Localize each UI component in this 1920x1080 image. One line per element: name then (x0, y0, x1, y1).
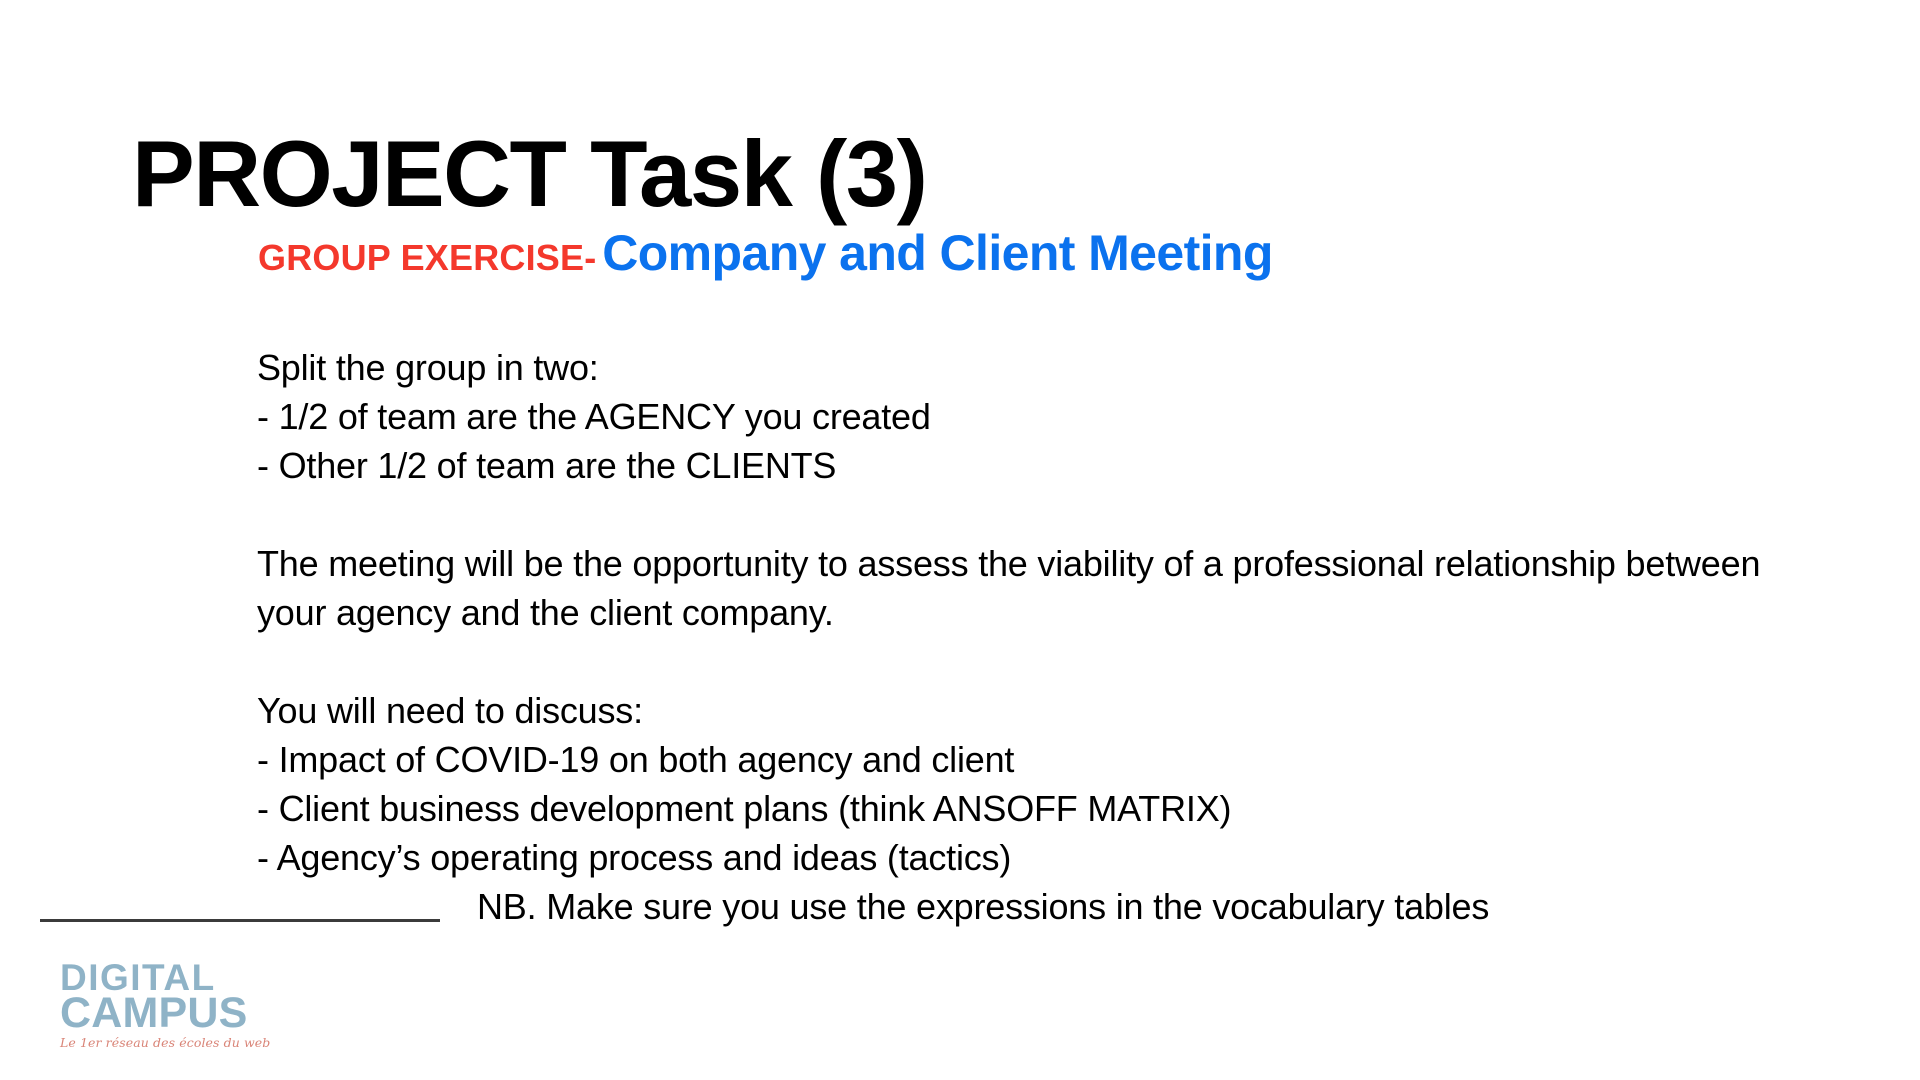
subtitle-headline: Company and Client Meeting (602, 225, 1273, 281)
block2-paragraph: The meeting will be the opportunity to a… (257, 539, 1817, 637)
block1-item-1: - 1/2 of team are the AGENCY you created (257, 392, 1817, 441)
block3-item-1: - Impact of COVID-19 on both agency and … (257, 735, 1817, 784)
subtitle-eyebrow: GROUP EXERCISE (258, 237, 584, 278)
slide-subtitle: GROUP EXERCISE-Company and Client Meetin… (258, 228, 1273, 278)
body-spacer-1 (257, 490, 1817, 539)
slide-canvas: PROJECT Task (3) GROUP EXERCISE-Company … (0, 0, 1920, 1080)
logo-tagline: Le 1er réseau des écoles du web (60, 1035, 240, 1050)
block1-item-2: - Other 1/2 of team are the CLIENTS (257, 441, 1817, 490)
body-block-1: Split the group in two: - 1/2 of team ar… (257, 343, 1817, 490)
footer-divider (40, 919, 440, 922)
logo-word-campus: CAMPUS (60, 995, 240, 1033)
body-block-3: You will need to discuss: - Impact of CO… (257, 686, 1817, 882)
block3-item-2: - Client business development plans (thi… (257, 784, 1817, 833)
block3-item-3: - Agency’s operating process and ideas (… (257, 833, 1817, 882)
block3-heading: You will need to discuss: (257, 686, 1817, 735)
slide-body: Split the group in two: - 1/2 of team ar… (257, 343, 1817, 882)
subtitle-separator: - (584, 237, 596, 278)
slide-title: PROJECT Task (3) (132, 125, 926, 224)
body-block-2: The meeting will be the opportunity to a… (257, 539, 1817, 637)
block1-heading: Split the group in two: (257, 343, 1817, 392)
body-note: NB. Make sure you use the expressions in… (477, 882, 1489, 931)
digital-campus-logo: DIGITAL CAMPUS Le 1er réseau des écoles … (60, 962, 240, 1050)
body-spacer-2 (257, 637, 1817, 686)
